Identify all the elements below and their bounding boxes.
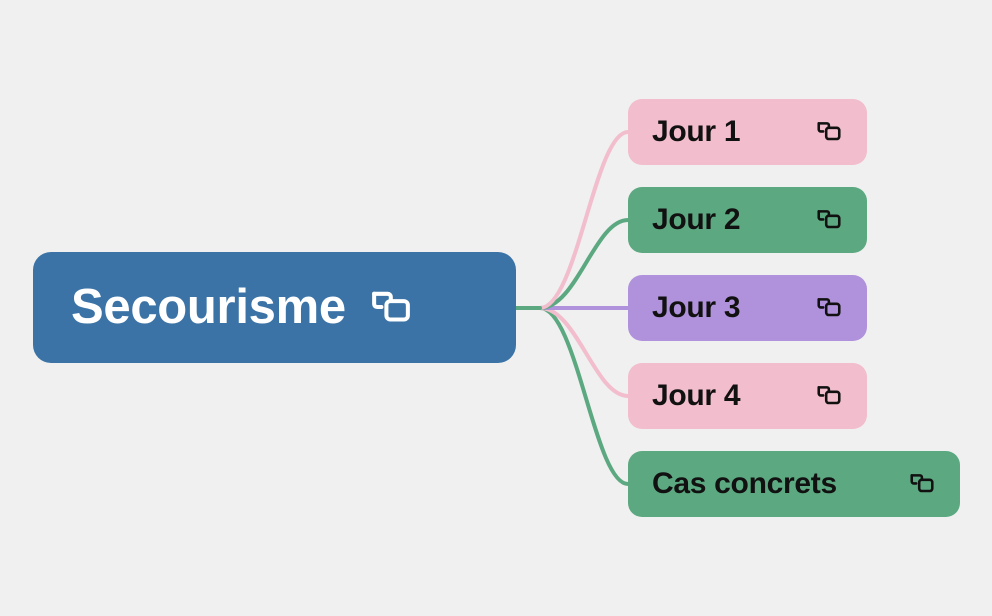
mindmap-branch-node[interactable]: Jour 3 [628, 275, 867, 341]
mindmap-branch-node[interactable]: Jour 2 [628, 187, 867, 253]
root-node-label: Secourisme [71, 283, 346, 332]
branch-connector [540, 132, 628, 308]
branch-connector [540, 308, 628, 396]
branch-connector [540, 220, 628, 308]
linked-nodes-icon[interactable] [789, 382, 843, 410]
linked-nodes-icon[interactable] [882, 470, 936, 498]
branch-node-label: Jour 3 [652, 293, 740, 323]
mindmap-branch-node[interactable]: Jour 1 [628, 99, 867, 165]
mindmap-canvas: Secourisme Jour 1Jour 2Jour 3Jour 4Cas c… [0, 0, 992, 616]
linked-nodes-icon[interactable] [789, 118, 843, 146]
branch-node-label: Jour 1 [652, 117, 740, 147]
branch-node-label: Cas concrets [652, 469, 837, 499]
mindmap-root-node[interactable]: Secourisme [33, 252, 516, 363]
branch-node-label: Jour 2 [652, 205, 740, 235]
branch-connector [540, 308, 628, 484]
branch-node-label: Jour 4 [652, 381, 740, 411]
mindmap-branch-node[interactable]: Cas concrets [628, 451, 960, 517]
linked-nodes-icon[interactable] [789, 206, 843, 234]
mindmap-branch-node[interactable]: Jour 4 [628, 363, 867, 429]
linked-nodes-icon[interactable] [789, 294, 843, 322]
linked-nodes-icon[interactable] [368, 285, 414, 331]
